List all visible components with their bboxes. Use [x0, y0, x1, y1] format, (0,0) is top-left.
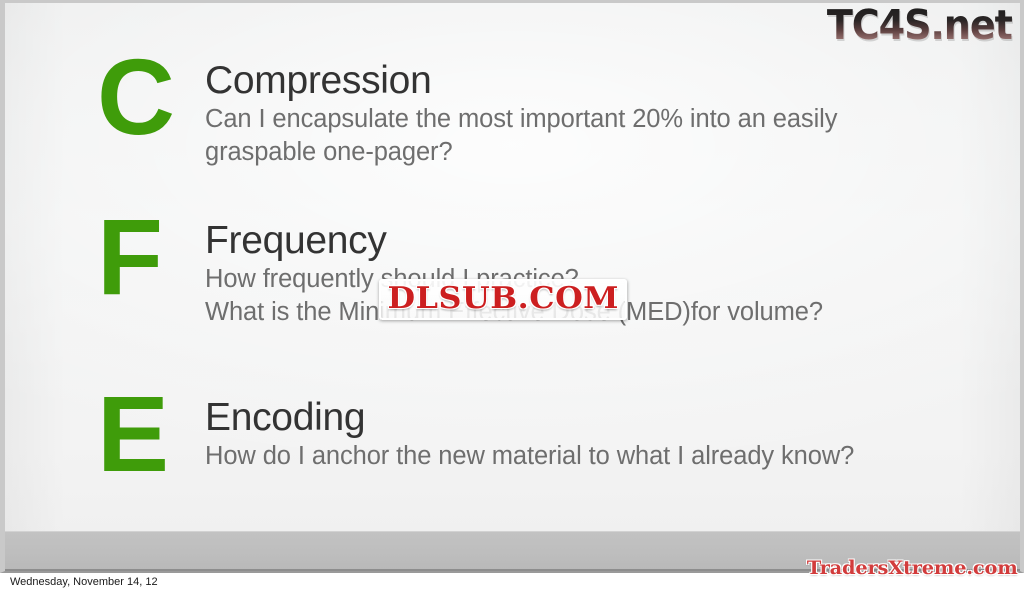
footer-brand-tradersxtreme: TradersXtreme.com [807, 559, 1018, 578]
bullet-body-line: graspable one-pager? [205, 136, 957, 169]
bullet-title-compression: Compression [205, 60, 957, 101]
slide-stage: TC4S.net TC4S.net C Compression Can I en… [0, 0, 1024, 573]
initial-letter-f: F [97, 211, 205, 304]
bullet-text-compression: Compression Can I encapsulate the most i… [205, 51, 957, 170]
bullet-block-compression: C Compression Can I encapsulate the most… [97, 51, 957, 170]
bullet-body-line: How do I anchor the new material to what… [205, 440, 957, 473]
bullet-title-encoding: Encoding [205, 397, 957, 438]
bullet-title-frequency: Frequency [205, 220, 957, 261]
initial-letter-e: E [97, 388, 205, 481]
bullet-body-compression: Can I encapsulate the most important 20%… [205, 103, 957, 169]
slide-root: TC4S.net TC4S.net C Compression Can I en… [0, 0, 1024, 592]
bullet-block-encoding: E Encoding How do I anchor the new mater… [97, 388, 957, 481]
initial-letter-c: C [97, 51, 205, 144]
bullet-body-encoding: How do I anchor the new material to what… [205, 440, 957, 473]
bullet-body-line: Can I encapsulate the most important 20%… [205, 103, 957, 136]
footer-date: Wednesday, November 14, 12 [10, 576, 158, 588]
brand-logo-tc4s: TC4S.net [827, 5, 1012, 46]
watermark-dlsub: DLSUB.COM [379, 279, 628, 320]
bullet-text-encoding: Encoding How do I anchor the new materia… [205, 388, 957, 473]
